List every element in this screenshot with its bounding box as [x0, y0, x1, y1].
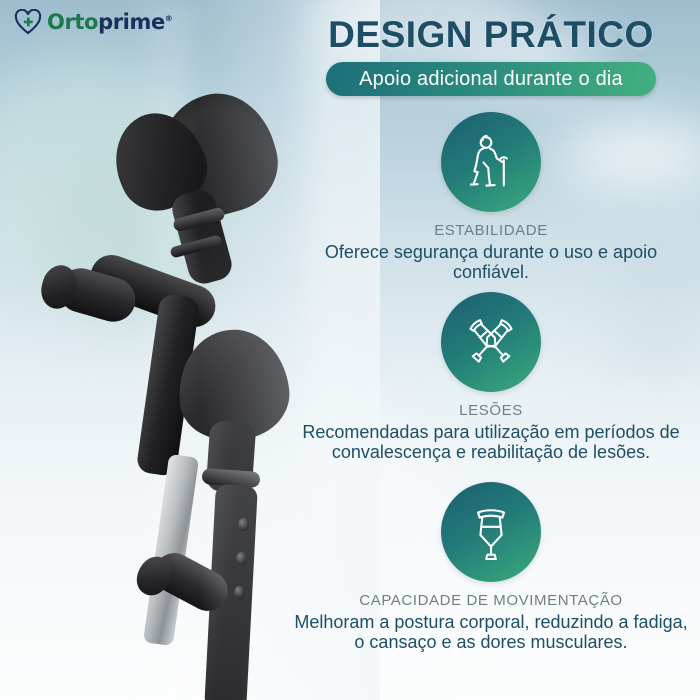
brand-logo[interactable]: Ortoprime® — [14, 9, 172, 35]
brand-name: Ortoprime® — [47, 12, 172, 33]
feature-heading: CAPACIDADE DE MOVIMENTAÇÃO — [282, 592, 700, 609]
brand-name-part1: Orto — [47, 10, 98, 34]
page-title: DESIGN PRÁTICO — [282, 14, 700, 56]
feature-body: Oferece segurança durante o uso e apoio … — [282, 242, 700, 282]
crossed-crutches-icon — [460, 311, 522, 373]
feature-body: Melhoram a postura corporal, reduzindo a… — [282, 612, 700, 652]
feature-body: Recomendadas para utilização em períodos… — [282, 422, 700, 462]
subtitle-text: Apoio adicional durante o dia — [359, 68, 623, 91]
single-crutch-icon — [461, 502, 521, 562]
heart-cross-icon — [14, 9, 42, 35]
feature-icon-circle — [441, 482, 541, 582]
feature-icon-circle — [441, 112, 541, 212]
feature-heading: ESTABILIDADE — [282, 222, 700, 239]
feature-block-injuries: LESÕES Recomendadas para utilização em p… — [282, 292, 700, 462]
registered-mark: ® — [165, 14, 173, 23]
brand-name-part2: prime — [98, 10, 165, 34]
feature-heading: LESÕES — [282, 402, 700, 419]
subtitle-pill: Apoio adicional durante o dia — [326, 62, 656, 96]
feature-block-stability: ESTABILIDADE Oferece segurança durante o… — [282, 112, 700, 282]
feature-icon-circle — [441, 292, 541, 392]
infographic-page: Ortoprime® DESIGN PRÁTICO Apoio adiciona… — [0, 0, 700, 700]
feature-block-mobility: CAPACIDADE DE MOVIMENTAÇÃO Melhoram a po… — [282, 482, 700, 652]
person-walking-with-cane-icon — [460, 131, 522, 193]
content-column: DESIGN PRÁTICO Apoio adicional durante o… — [282, 0, 700, 700]
